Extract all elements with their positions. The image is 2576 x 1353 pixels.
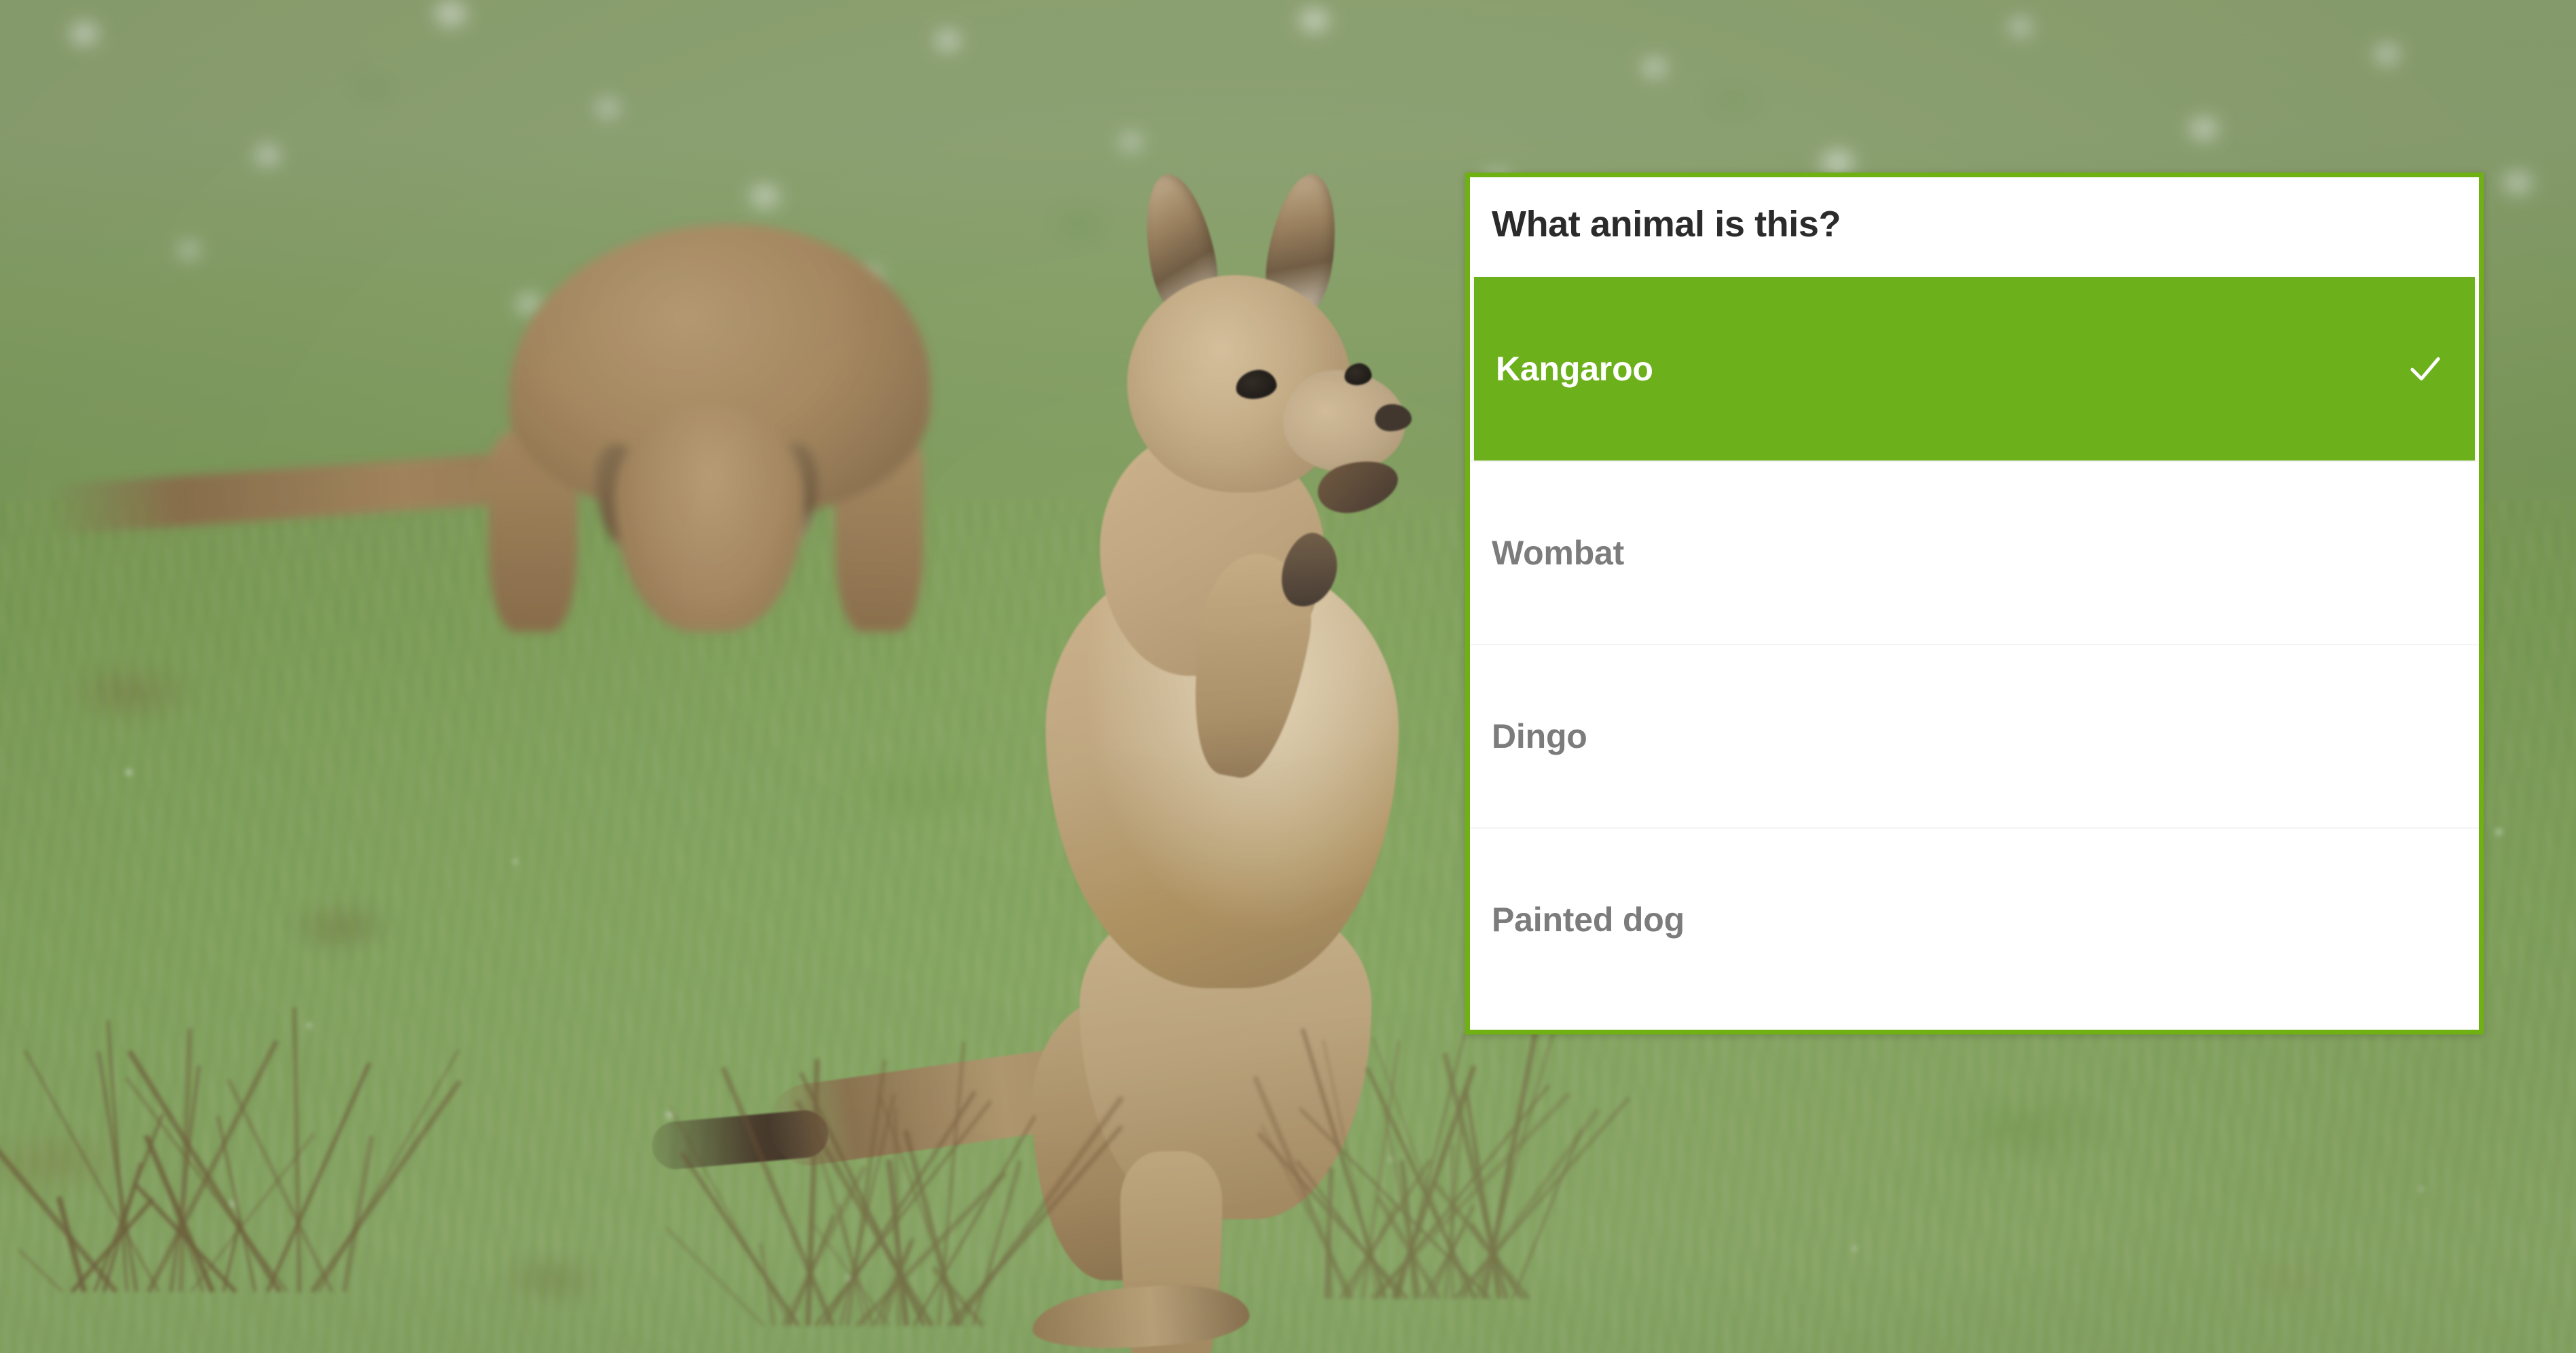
quiz-option-list: Kangaroo Wombat Dingo: [1470, 277, 2479, 1030]
quiz-panel: What animal is this? Kangaroo Wombat: [1465, 173, 2484, 1034]
dry-shrub-centre: [760, 1041, 985, 1326]
quiz-option-kangaroo[interactable]: Kangaroo: [1474, 277, 2475, 461]
kangaroo-background-head: [614, 408, 805, 632]
quiz-option-dingo[interactable]: Dingo: [1470, 644, 2479, 827]
quiz-option-label: Dingo: [1492, 717, 1587, 756]
dry-shrub-left: [61, 857, 353, 1292]
quiz-option-painted-dog[interactable]: Painted dog: [1470, 827, 2479, 1011]
kangaroo-nose: [1375, 404, 1412, 431]
check-icon: [2407, 350, 2444, 387]
screenshot-root: What animal is this? Kangaroo Wombat: [0, 0, 2576, 1353]
quiz-option-label: Painted dog: [1492, 900, 1685, 939]
quiz-question: What animal is this?: [1470, 177, 2479, 245]
quiz-option-wombat[interactable]: Wombat: [1470, 461, 2479, 644]
quiz-option-label: Wombat: [1492, 533, 1624, 573]
quiz-option-label: Kangaroo: [1496, 349, 1653, 389]
